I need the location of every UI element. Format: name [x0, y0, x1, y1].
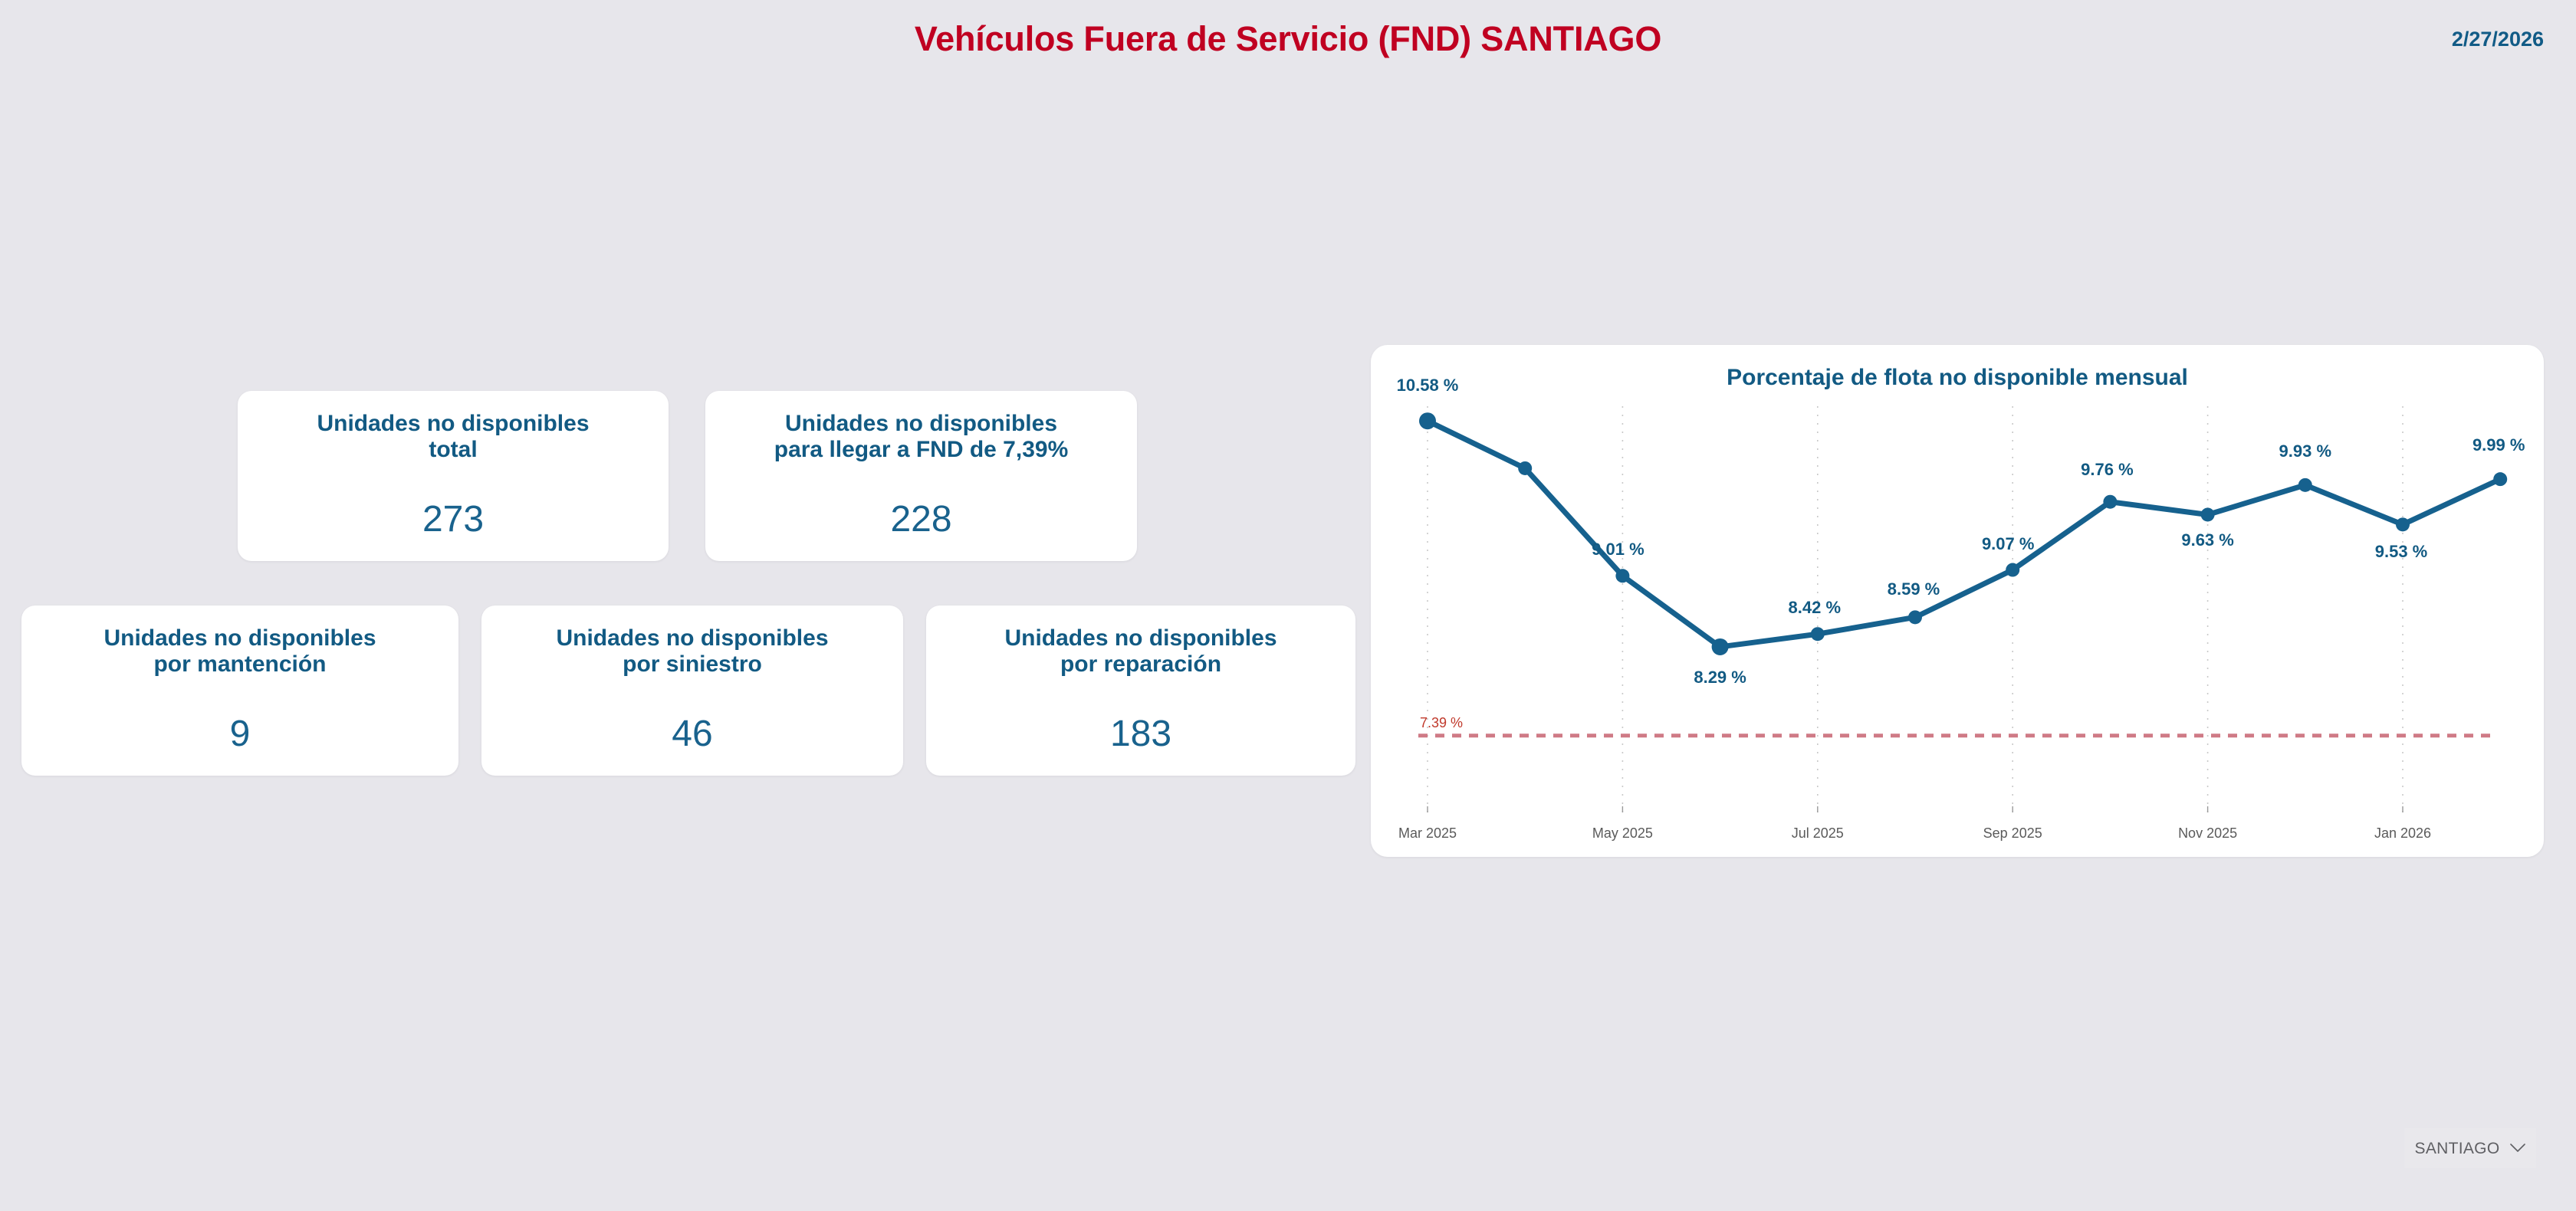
data-point-marker[interactable]: [2103, 495, 2117, 509]
region-selector-label: SANTIAGO: [2415, 1140, 2500, 1157]
data-point-label: 9.93 %: [2279, 443, 2332, 460]
data-point-label: 10.58 %: [1397, 377, 1459, 394]
data-point-label: 9.01 %: [1592, 541, 1644, 558]
line-chart-svg: [1371, 345, 2544, 857]
kpi-title: Unidades no disponibles por siniestro: [491, 625, 894, 677]
data-point-marker[interactable]: [2006, 563, 2019, 577]
kpi-title-line1: Unidades no disponibles: [1004, 625, 1276, 651]
kpi-card-unidades-para-llegar-a-fnd[interactable]: Unidades no disponibles para llegar a FN…: [705, 391, 1137, 561]
data-point-marker[interactable]: [2201, 507, 2215, 521]
kpi-value: 228: [705, 501, 1137, 538]
page-title: Vehículos Fuera de Servicio (FND) SANTIA…: [0, 21, 2576, 56]
data-point-label: 9.76 %: [2081, 461, 2134, 478]
kpi-title-line2: para llegar a FND de 7,39%: [774, 437, 1069, 462]
data-point-marker[interactable]: [1615, 569, 1629, 583]
kpi-card-unidades-no-disponibles-total[interactable]: Unidades no disponibles total 273: [238, 391, 669, 561]
kpi-title-line1: Unidades no disponibles: [785, 411, 1057, 436]
data-point-marker[interactable]: [2396, 517, 2410, 531]
line-chart-plot[interactable]: 10.58 %9.01 %8.29 %8.42 %8.59 %9.07 %9.7…: [1371, 345, 2544, 857]
kpi-title-line1: Unidades no disponibles: [556, 625, 828, 651]
data-point-label: 8.59 %: [1888, 581, 1940, 598]
chart-card[interactable]: Porcentaje de flota no disponible mensua…: [1371, 345, 2544, 857]
chevron-down-icon[interactable]: [2510, 1144, 2525, 1153]
header-date: 2/27/2026: [2452, 29, 2544, 50]
kpi-value: 9: [21, 716, 458, 753]
kpi-title: Unidades no disponibles para llegar a FN…: [715, 411, 1128, 462]
data-point-label: 8.42 %: [1789, 599, 1842, 616]
x-axis-tick-label: Jul 2025: [1792, 826, 1844, 840]
kpi-card-unidades-por-siniestro[interactable]: Unidades no disponibles por siniestro 46: [481, 605, 903, 776]
kpi-title-line2: por siniestro: [623, 651, 762, 677]
data-point-label: 9.53 %: [2375, 543, 2428, 560]
data-point-label: 9.63 %: [2181, 532, 2234, 549]
series-line: [1428, 421, 2500, 647]
kpi-value: 46: [481, 716, 903, 753]
data-point-marker[interactable]: [1712, 638, 1729, 655]
data-point-marker[interactable]: [2493, 472, 2507, 486]
kpi-title-line2: por reparación: [1060, 651, 1221, 677]
data-point-marker[interactable]: [1518, 461, 1532, 475]
data-point-label: 8.29 %: [1694, 669, 1746, 686]
data-point-marker[interactable]: [2298, 478, 2312, 492]
kpi-value: 183: [926, 716, 1355, 753]
data-point-marker[interactable]: [1811, 627, 1825, 641]
data-point-label: 9.99 %: [2472, 437, 2525, 454]
data-point-label: 9.07 %: [1982, 536, 2035, 553]
kpi-title-line2: por mantención: [153, 651, 326, 677]
kpi-title-line2: total: [429, 437, 477, 462]
kpi-value: 273: [238, 501, 669, 538]
header-bar: Vehículos Fuera de Servicio (FND) SANTIA…: [0, 0, 2576, 60]
kpi-card-unidades-por-reparacion[interactable]: Unidades no disponibles por reparación 1…: [926, 605, 1355, 776]
threshold-label: 7.39 %: [1420, 716, 1463, 730]
x-axis-tick-label: Mar 2025: [1398, 826, 1457, 840]
region-selector-dropdown[interactable]: SANTIAGO: [2404, 1128, 2536, 1168]
kpi-card-unidades-por-mantencion[interactable]: Unidades no disponibles por mantención 9: [21, 605, 458, 776]
x-axis-tick-label: May 2025: [1592, 826, 1653, 840]
x-axis-tick-label: Sep 2025: [1983, 826, 2042, 840]
x-axis-tick-label: Jan 2026: [2374, 826, 2431, 840]
kpi-title: Unidades no disponibles por mantención: [31, 625, 449, 677]
data-point-marker[interactable]: [1419, 412, 1436, 429]
kpi-title: Unidades no disponibles total: [247, 411, 659, 462]
x-axis-tick-label: Nov 2025: [2178, 826, 2237, 840]
kpi-title-line1: Unidades no disponibles: [317, 411, 589, 436]
kpi-title: Unidades no disponibles por reparación: [935, 625, 1346, 677]
data-point-marker[interactable]: [1908, 610, 1922, 624]
kpi-title-line1: Unidades no disponibles: [103, 625, 376, 651]
